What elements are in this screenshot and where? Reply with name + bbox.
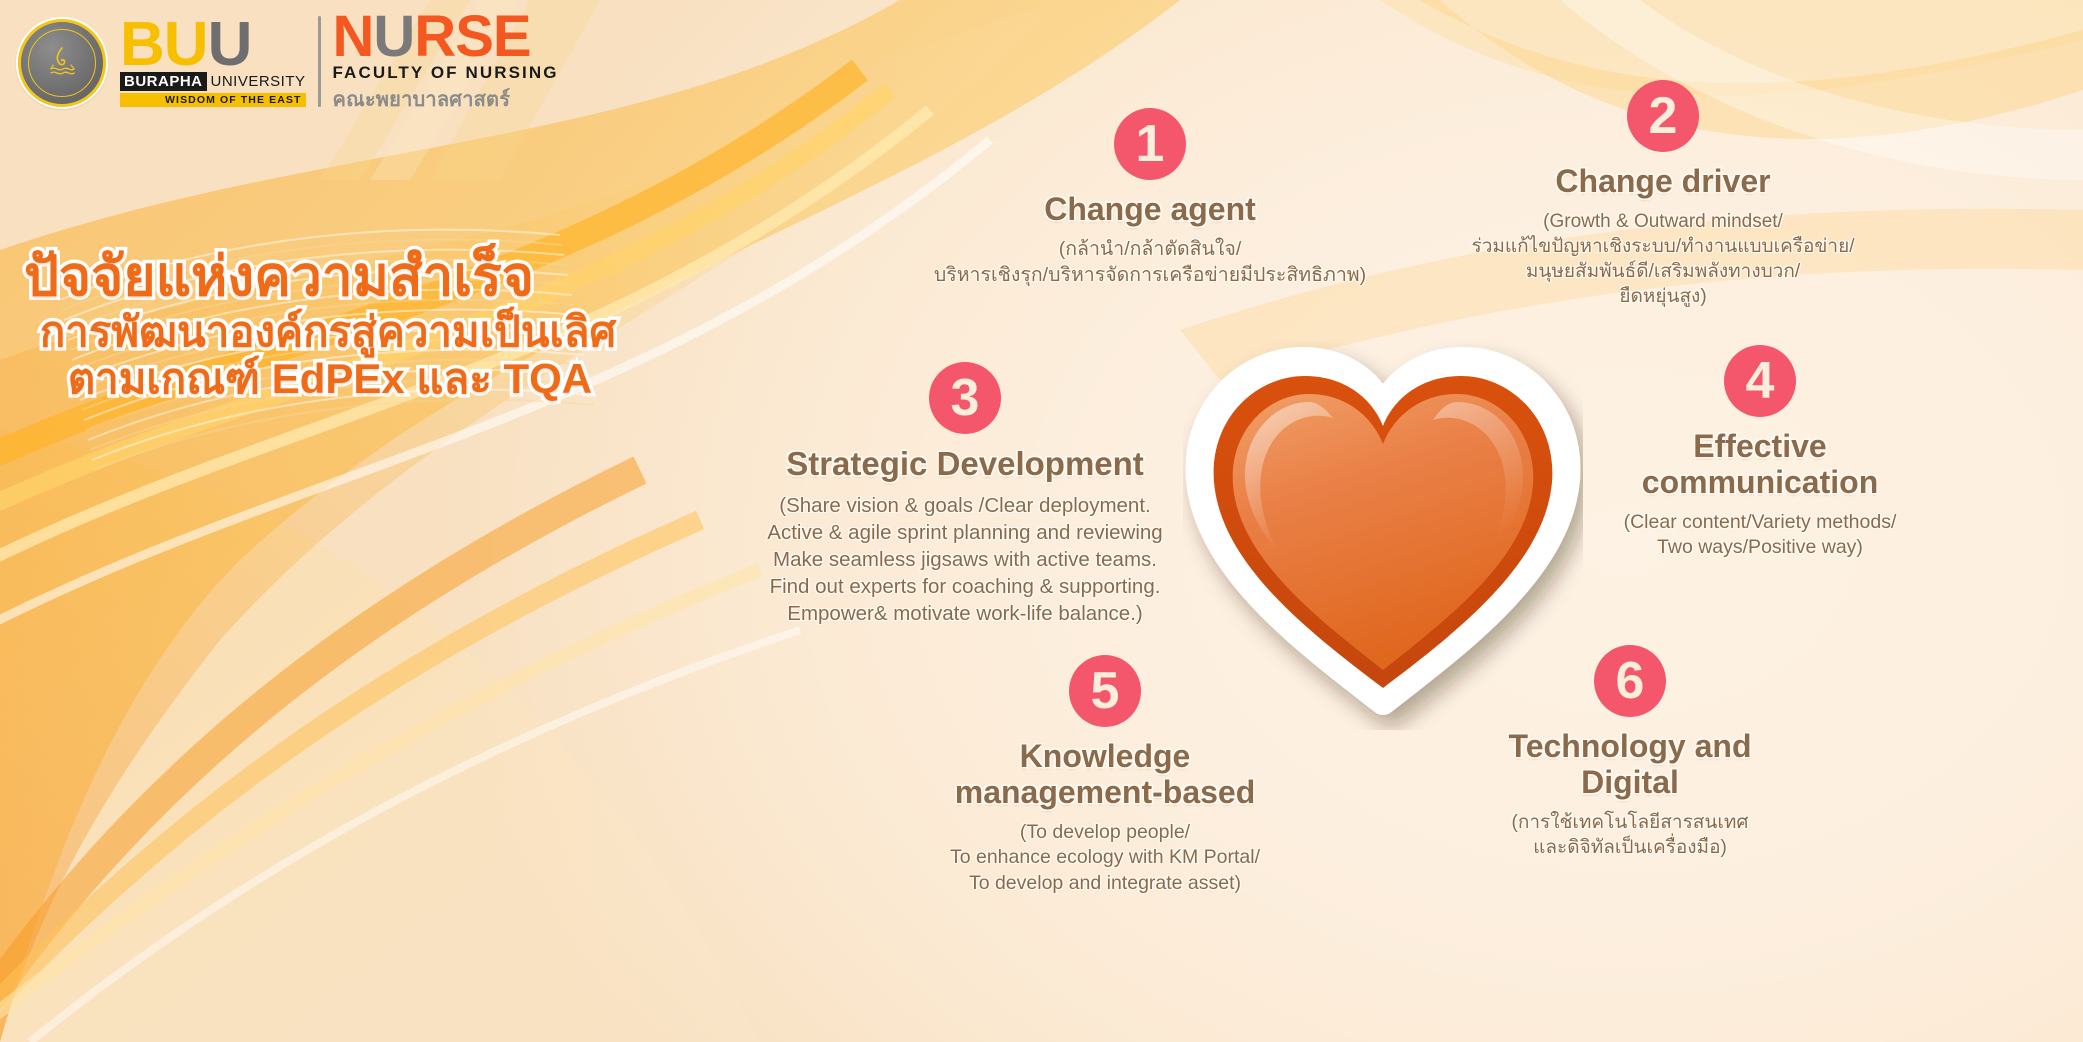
factor-number-badge-6: 6 xyxy=(1594,645,1666,717)
factor-item-5: 5 Knowledge management-based (To develop… xyxy=(880,655,1330,897)
factor-item-3: 3 Strategic Development (Share vision & … xyxy=(700,362,1230,627)
factor-item-2: 2 Change driver (Growth & Outward mindse… xyxy=(1448,80,1878,309)
factor-subtitle-6: (การใช้เทคโนโลยีสารสนเทศ และดิจิทัลเป็นเ… xyxy=(1512,810,1749,860)
factor-subtitle-5: (To develop people/ To enhance ecology w… xyxy=(950,820,1260,897)
nurse-letters: N U R S E xyxy=(333,12,559,62)
factor-number-badge-2: 2 xyxy=(1627,80,1699,152)
factor-title-1: Change agent xyxy=(1044,192,1256,228)
page-title: ปัจจัยแห่งความสำเร็จ การพัฒนาองค์กรสู่คว… xyxy=(22,246,662,402)
page-title-line-3: ตามเกณฑ์ EdPEx และ TQA xyxy=(22,355,662,402)
buu-letter-u2: U xyxy=(208,20,252,71)
factor-subtitle-1: (กล้านำ/กล้าตัดสินใจ/ บริหารเชิงรุก/บริห… xyxy=(934,237,1366,288)
buu-subtitle-university: UNIVERSITY xyxy=(211,73,306,90)
factor-title-4: Effective communication xyxy=(1642,429,1878,501)
factor-subtitle-2: (Growth & Outward mindset/ ร่วมแก้ไขปัญห… xyxy=(1472,209,1855,309)
page-title-line-2: การพัฒนาองค์กรสู่ความเป็นเลิศ xyxy=(22,308,662,355)
faculty-of-nursing-label: FACULTY OF NURSING xyxy=(333,63,559,83)
nurse-letter-n: N xyxy=(333,12,374,62)
factor-number-badge-3: 3 xyxy=(929,362,1001,434)
nurse-letter-u: U xyxy=(373,12,414,62)
wordmark: B U U BURAPHA UNIVERSITY WISDOM OF THE E… xyxy=(120,12,559,115)
buu-wordmark: B U U BURAPHA UNIVERSITY WISDOM OF THE E… xyxy=(120,12,306,115)
factor-number-badge-4: 4 xyxy=(1724,345,1796,417)
infographic-canvas: B U U BURAPHA UNIVERSITY WISDOM OF THE E… xyxy=(0,0,2083,1042)
nurse-wordmark: N U R S E FACULTY OF NURSING คณะพยาบาลศา… xyxy=(333,12,559,115)
factor-title-5: Knowledge management-based xyxy=(955,739,1256,811)
nurse-letter-r: R xyxy=(414,12,455,62)
factor-subtitle-4: (Clear content/Variety methods/ Two ways… xyxy=(1624,510,1897,561)
buu-tagline: WISDOM OF THE EAST xyxy=(120,93,306,107)
nurse-letter-s: S xyxy=(455,12,493,62)
factor-title-2: Change driver xyxy=(1555,164,1770,200)
factor-number-badge-1: 1 xyxy=(1114,108,1186,180)
factor-item-1: 1 Change agent (กล้านำ/กล้าตัดสินใจ/ บริ… xyxy=(910,108,1390,288)
buu-letter-u1: U xyxy=(164,20,208,71)
factor-subtitle-3: (Share vision & goals /Clear deployment.… xyxy=(767,492,1162,627)
factor-number-badge-5: 5 xyxy=(1069,655,1141,727)
buu-letter-b: B xyxy=(120,20,164,71)
factor-title-3: Strategic Development xyxy=(786,446,1144,483)
wordmark-divider xyxy=(318,16,321,107)
factor-item-6: 6 Technology and Digital (การใช้เทคโนโลย… xyxy=(1420,645,1840,860)
factor-item-4: 4 Effective communication (Clear content… xyxy=(1565,345,1955,561)
page-title-line-1: ปัจจัยแห่งความสำเร็จ xyxy=(22,246,662,308)
nurse-letter-e: E xyxy=(493,12,531,62)
buu-subtitle: BURAPHA UNIVERSITY xyxy=(120,72,306,91)
buu-subtitle-burapha: BURAPHA xyxy=(120,72,207,91)
burapha-university-seal-icon xyxy=(18,19,106,107)
factor-title-6: Technology and Digital xyxy=(1509,729,1752,801)
faculty-of-nursing-thai-label: คณะพยาบาลศาสตร์ xyxy=(333,83,559,115)
buu-letters: B U U xyxy=(120,20,306,71)
brand-logo-bar: B U U BURAPHA UNIVERSITY WISDOM OF THE E… xyxy=(18,12,559,115)
